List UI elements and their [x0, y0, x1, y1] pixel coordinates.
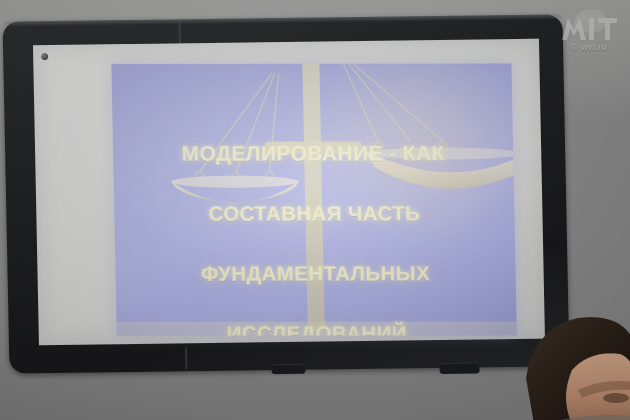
marker-tray-clip-left — [271, 364, 305, 374]
slide-title: МОДЕЛИРОВАНИЕ - КАК СОСТАВНАЯ ЧАСТЬ ФУНД… — [112, 109, 517, 335]
slide-canvas: МОДЕЛИРОВАНИЕ - КАК СОСТАВНАЯ ЧАСТЬ ФУНД… — [111, 63, 517, 335]
slide-title-line-4: ИССЛЕДОВАНИЙ — [124, 319, 509, 335]
frame-seam-bottom — [185, 347, 187, 369]
slide-title-line-3: ФУНДАМЕНТАЛЬНЫХ — [123, 259, 508, 289]
marker-tray-clip-right — [439, 362, 479, 374]
whiteboard-surface: МОДЕЛИРОВАНИЕ - КАК СОСТАВНАЯ ЧАСТЬ ФУНД… — [33, 39, 545, 346]
room-photo-scene: МОДЕЛИРОВАНИЕ - КАК СОСТАВНАЯ ЧАСТЬ ФУНД… — [0, 0, 630, 420]
slide-title-line-1: МОДЕЛИРОВАНИЕ - КАК — [121, 139, 506, 169]
slide-title-line-2: СОСТАВНАЯ ЧАСТЬ — [122, 199, 507, 229]
mounting-screw-icon — [41, 53, 48, 60]
projected-slide: МОДЕЛИРОВАНИЕ - КАК СОСТАВНАЯ ЧАСТЬ ФУНД… — [111, 63, 517, 335]
frame-seam-top — [179, 21, 181, 45]
whiteboard-frame: МОДЕЛИРОВАНИЕ - КАК СОСТАВНАЯ ЧАСТЬ ФУНД… — [2, 14, 569, 373]
